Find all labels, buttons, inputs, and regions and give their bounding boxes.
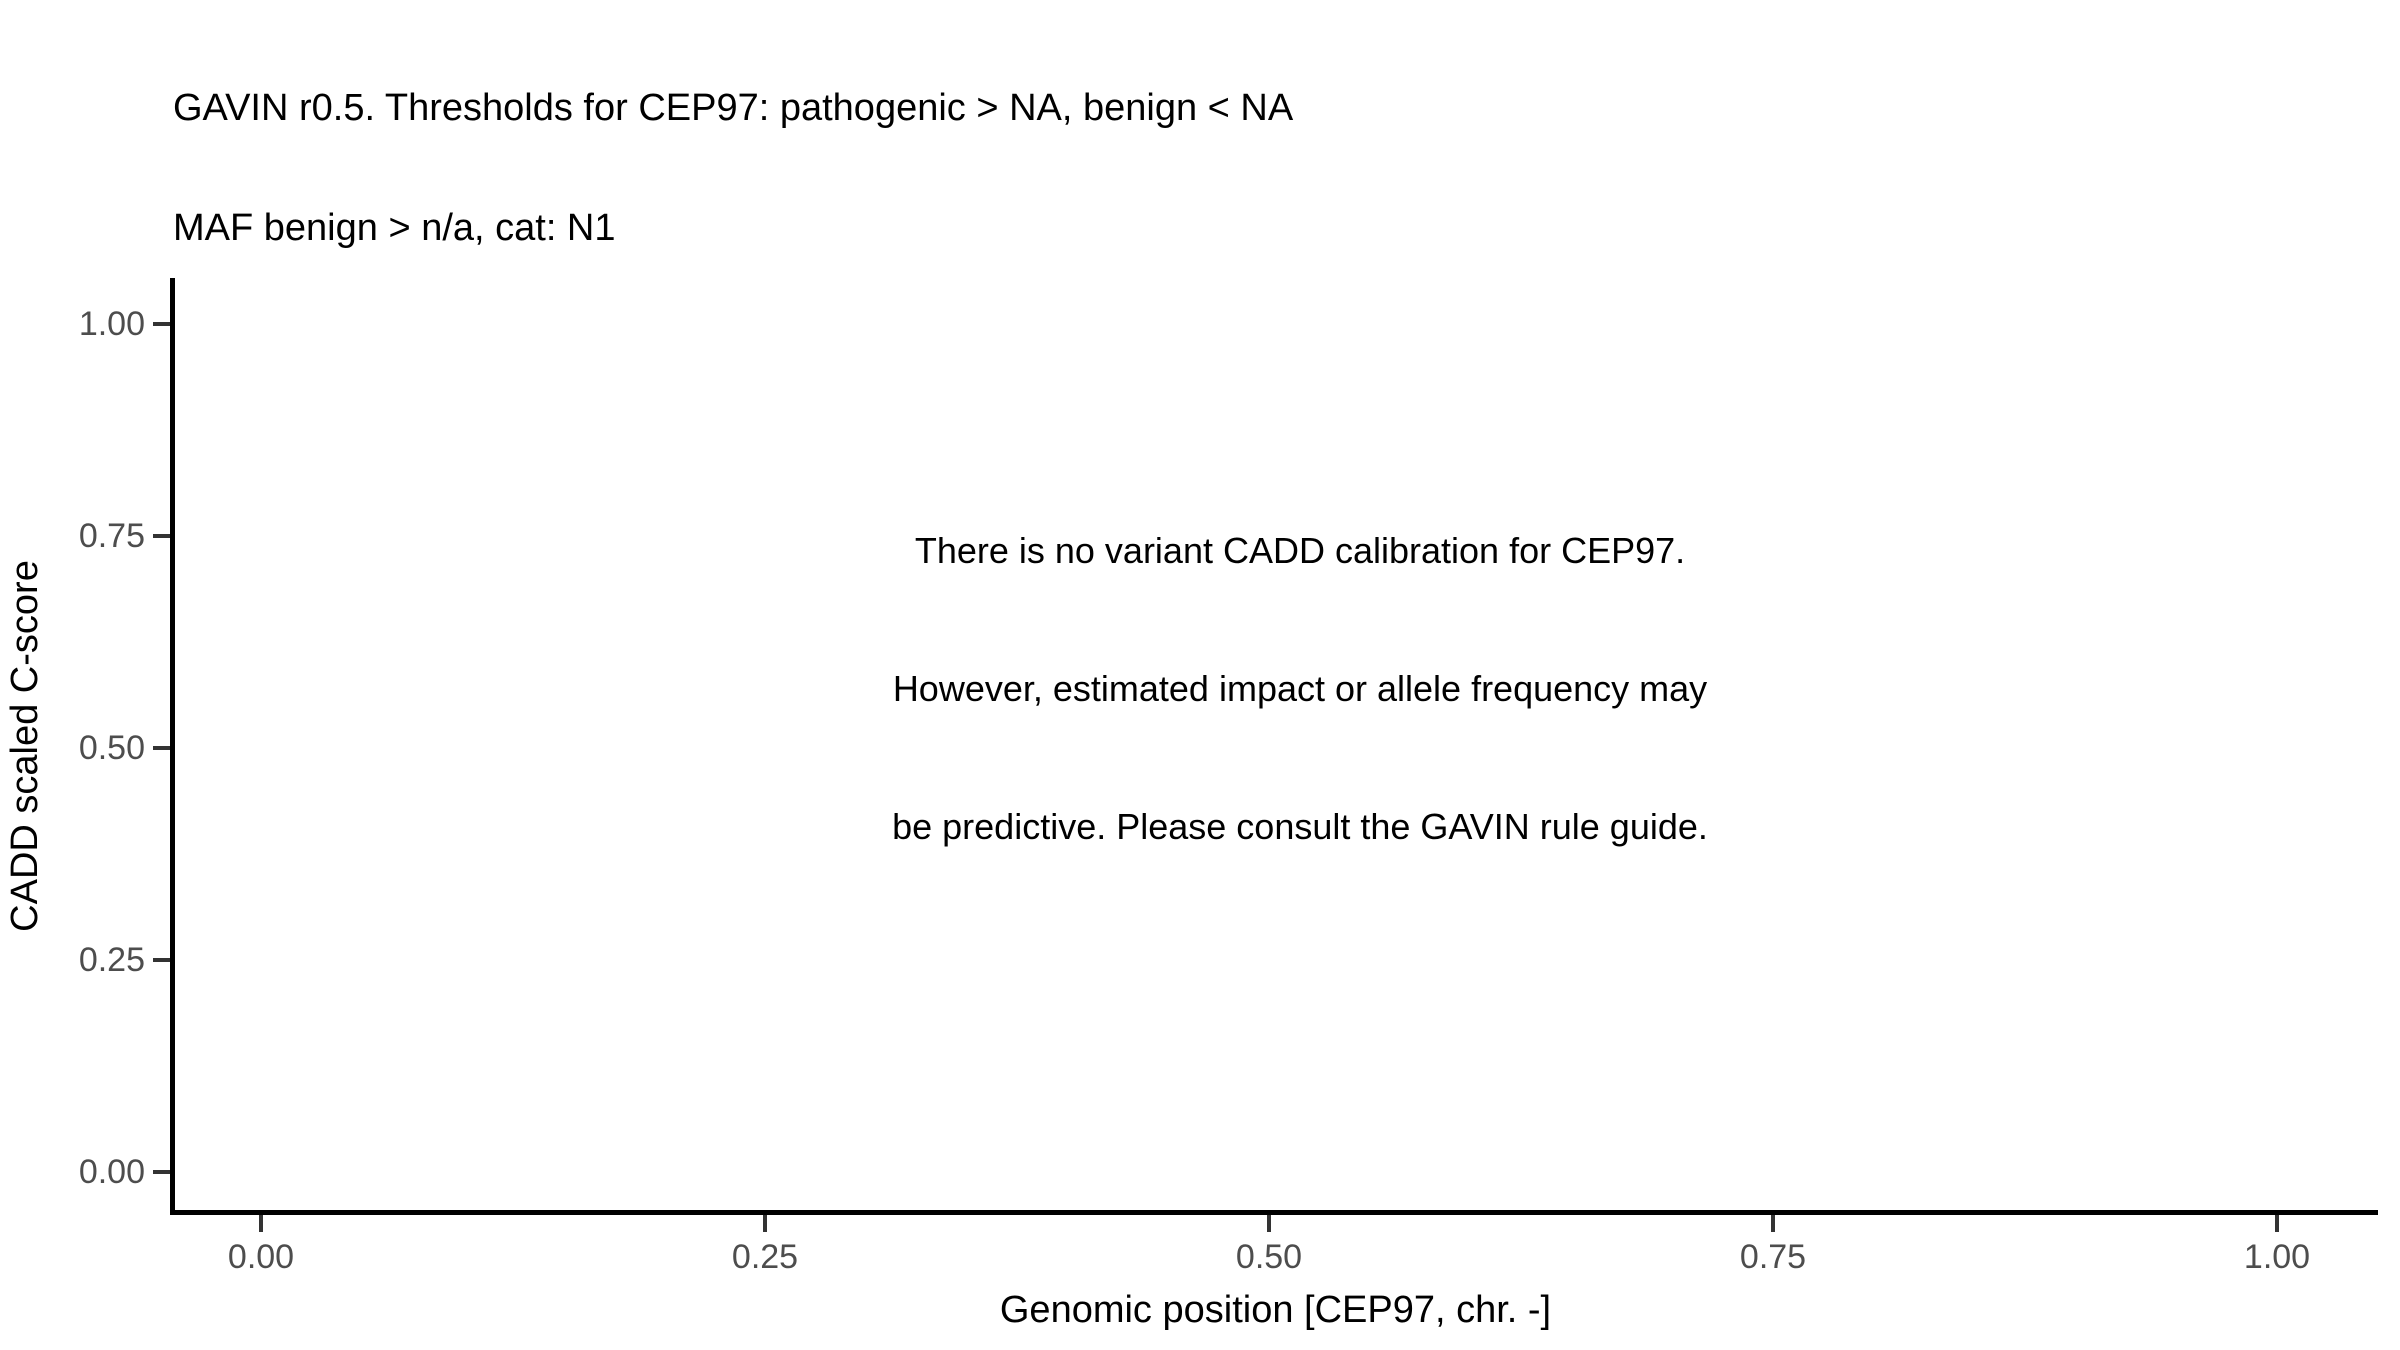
x-axis-tick-label-2: 0.50 (1169, 1240, 1369, 1274)
panel-annotation: There is no variant CADD calibration for… (500, 436, 2100, 942)
x-axis-title: Genomic position [CEP97, chr. -] (173, 1290, 2378, 1330)
y-axis-line (170, 278, 175, 1215)
plot-canvas: GAVIN r0.5. Thresholds for CEP97: pathog… (0, 0, 2400, 1350)
x-axis-tick-label-0: 0.00 (161, 1240, 361, 1274)
y-axis-tick-2 (153, 746, 170, 750)
y-axis-tick-3 (153, 534, 170, 538)
x-axis-tick-0 (259, 1215, 263, 1232)
x-axis-tick-label-4: 1.00 (2177, 1240, 2377, 1274)
plot-title-line-1: GAVIN r0.5. Thresholds for CEP97: pathog… (173, 88, 2323, 128)
y-axis-tick-4 (153, 322, 170, 326)
y-axis-title-container: CADD scaled C-score (0, 278, 50, 1213)
x-axis-tick-1 (763, 1215, 767, 1232)
x-axis-tick-2 (1267, 1215, 1271, 1232)
y-axis-title: CADD scaled C-score (5, 560, 45, 932)
panel-annotation-line-3: be predictive. Please consult the GAVIN … (500, 804, 2100, 850)
plot-title-line-2: MAF benign > n/a, cat: N1 (173, 208, 2323, 248)
x-axis-tick-3 (1771, 1215, 1775, 1232)
panel-annotation-line-1: There is no variant CADD calibration for… (500, 528, 2100, 574)
y-axis-tick-1 (153, 958, 170, 962)
y-axis-tick-0 (153, 1170, 170, 1174)
x-axis-tick-label-3: 0.75 (1673, 1240, 1873, 1274)
x-axis-tick-label-1: 0.25 (665, 1240, 865, 1274)
x-axis-tick-4 (2275, 1215, 2279, 1232)
panel-annotation-line-2: However, estimated impact or allele freq… (500, 666, 2100, 712)
x-axis-line (170, 1210, 2378, 1215)
